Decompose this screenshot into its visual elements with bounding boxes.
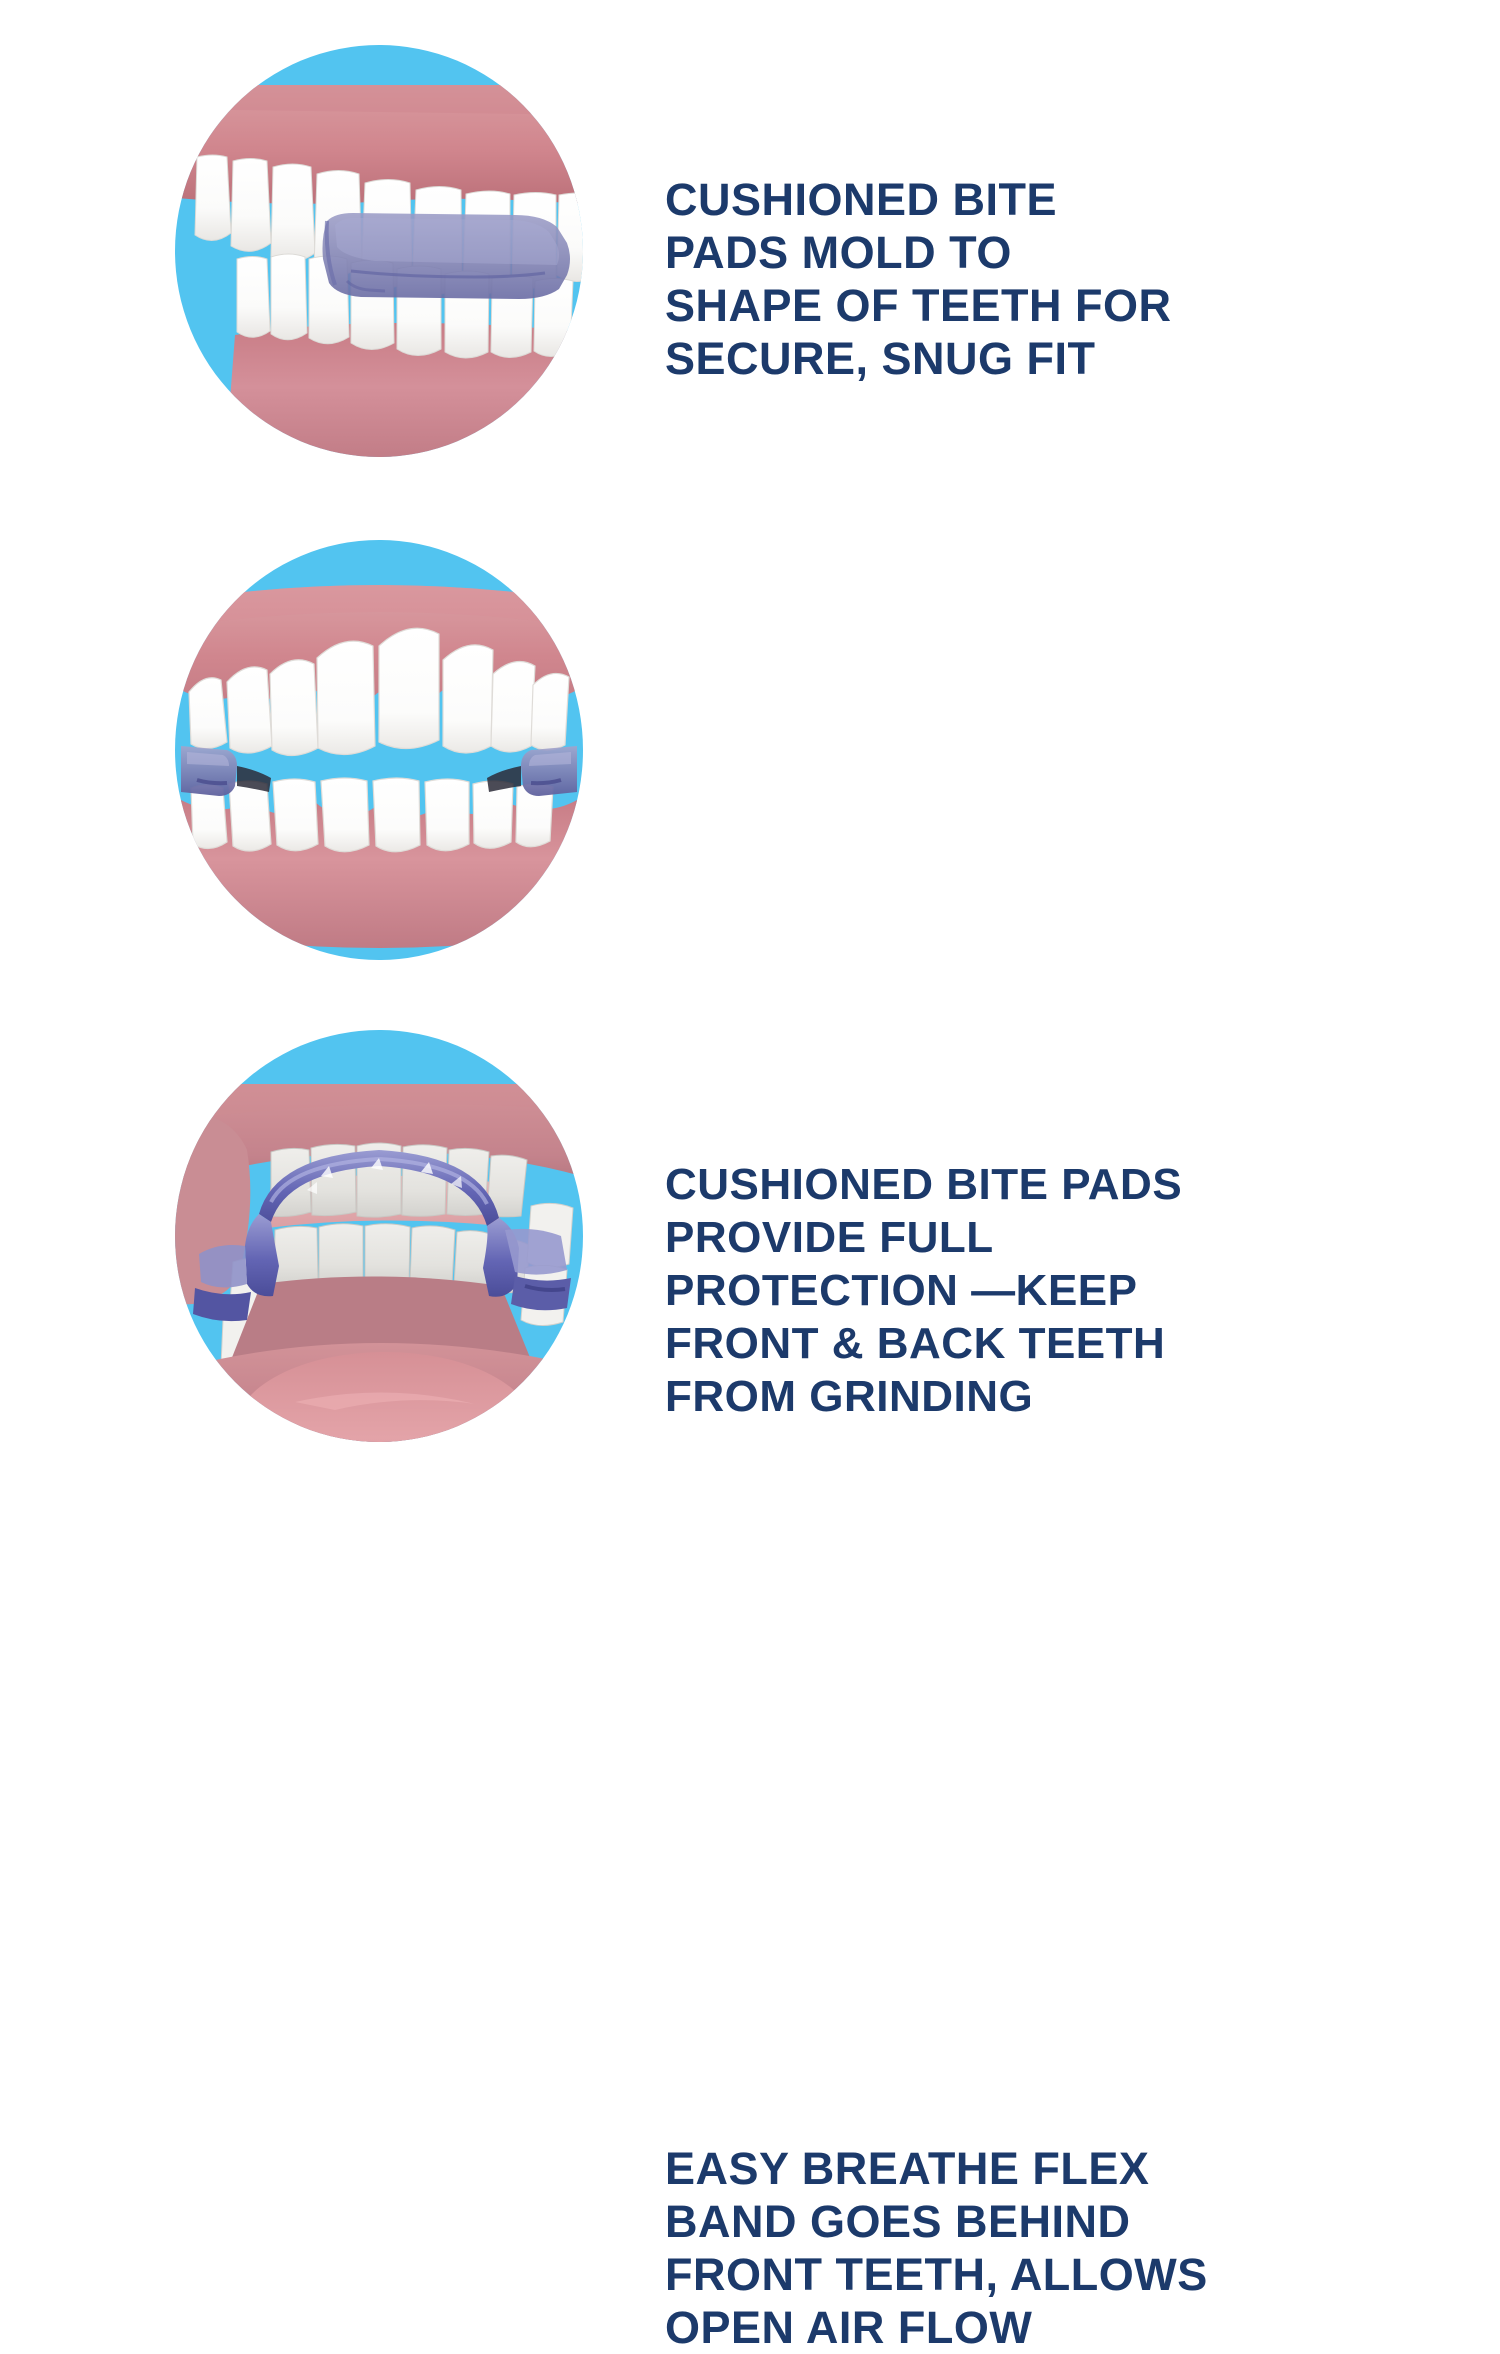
feature-row-3: EASY BREATHE FLEX BAND GOES BEHIND FRONT… (0, 1030, 1500, 1442)
front-view-teeth-with-bite-pads-icon (175, 540, 583, 960)
caption-line: BAND GOES BEHIND (665, 2195, 1365, 2248)
caption-line: EASY BREATHE FLEX (665, 2142, 1365, 2195)
circle-background-1 (175, 45, 583, 457)
caption-line: SECURE, SNUG FIT (665, 332, 1365, 385)
illustration-gutter-3 (0, 1030, 175, 1442)
caption-line: SHAPE OF TEETH FOR (665, 279, 1365, 332)
caption-line: OPEN AIR FLOW (665, 2301, 1365, 2354)
inside-mouth-view-flex-band-icon (175, 1030, 583, 1442)
feature-row-2: CUSHIONED BITE PADS PROVIDE FULL PROTECT… (0, 540, 1500, 960)
circle-background-2 (175, 540, 583, 960)
circle-background-3 (175, 1030, 583, 1442)
infographic-page: CUSHIONED BITE PADS MOLD TO SHAPE OF TEE… (0, 0, 1500, 1500)
bite-pad-right (521, 746, 577, 796)
illustration-front-view-teeth-with-bite-pads (175, 540, 583, 960)
illustration-gutter-1 (0, 45, 175, 457)
caption-line: FRONT TEETH, ALLOWS (665, 2248, 1365, 2301)
feature-row-1: CUSHIONED BITE PADS MOLD TO SHAPE OF TEE… (0, 45, 1500, 457)
bite-pad-left (181, 746, 237, 796)
illustration-side-view-teeth-with-bite-pad (175, 45, 583, 457)
feature-caption-1: CUSHIONED BITE PADS MOLD TO SHAPE OF TEE… (665, 173, 1365, 385)
side-view-teeth-with-bite-pad-icon (175, 45, 583, 457)
caption-line: CUSHIONED BITE (665, 173, 1365, 226)
illustration-gutter-2 (0, 540, 175, 960)
illustration-inside-mouth-view-flex-band (175, 1030, 583, 1442)
bite-pad-shape (323, 213, 571, 299)
caption-line: PADS MOLD TO (665, 226, 1365, 279)
feature-caption-3: EASY BREATHE FLEX BAND GOES BEHIND FRONT… (665, 2142, 1365, 2354)
